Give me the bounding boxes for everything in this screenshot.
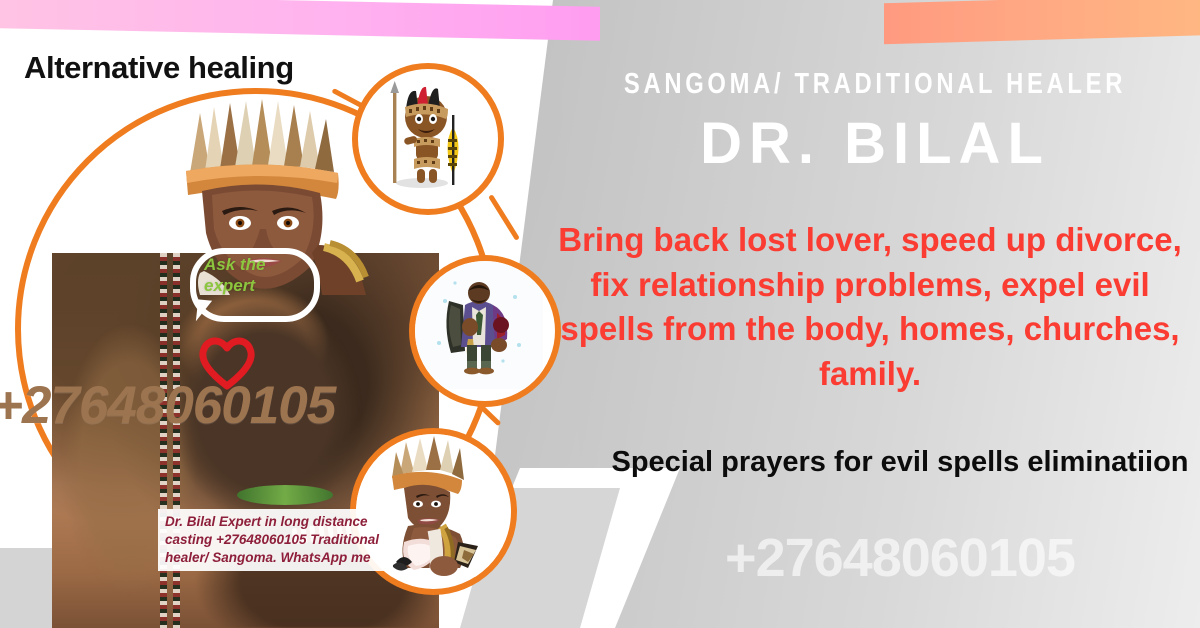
photo-caption: Dr. Bilal Expert in long distance castin… [158,509,393,571]
circle-traditional-healer-figure [409,255,561,407]
doctor-name: DR. BILAL [560,110,1190,177]
speech-bubble-text: Ask the expert [204,254,312,297]
circle-zulu-warrior-cartoon [352,63,504,215]
top-pink-bar [0,0,600,41]
heart-icon [196,334,258,390]
bead-strand-left [160,253,167,628]
speech-bubble-tail [196,299,212,322]
grey-strip-bottom-left [0,548,55,628]
poster-root: Alternative healing [0,0,1200,628]
green-necklace [237,485,333,505]
photo-watermark-phone: +27648060105 [0,375,335,436]
bead-strand-left-2 [173,253,180,628]
page-title: Alternative healing [24,50,294,86]
ghost-phone-number: +27648060105 [600,527,1200,589]
connector-line-2 [488,194,520,241]
subtitle-sangoma: SANGOMA/ TRADITIONAL HEALER [617,68,1134,101]
special-prayers-text: Special prayers for evil spells eliminat… [600,443,1200,482]
services-text: Bring back lost lover, speed up divorce,… [540,218,1200,396]
